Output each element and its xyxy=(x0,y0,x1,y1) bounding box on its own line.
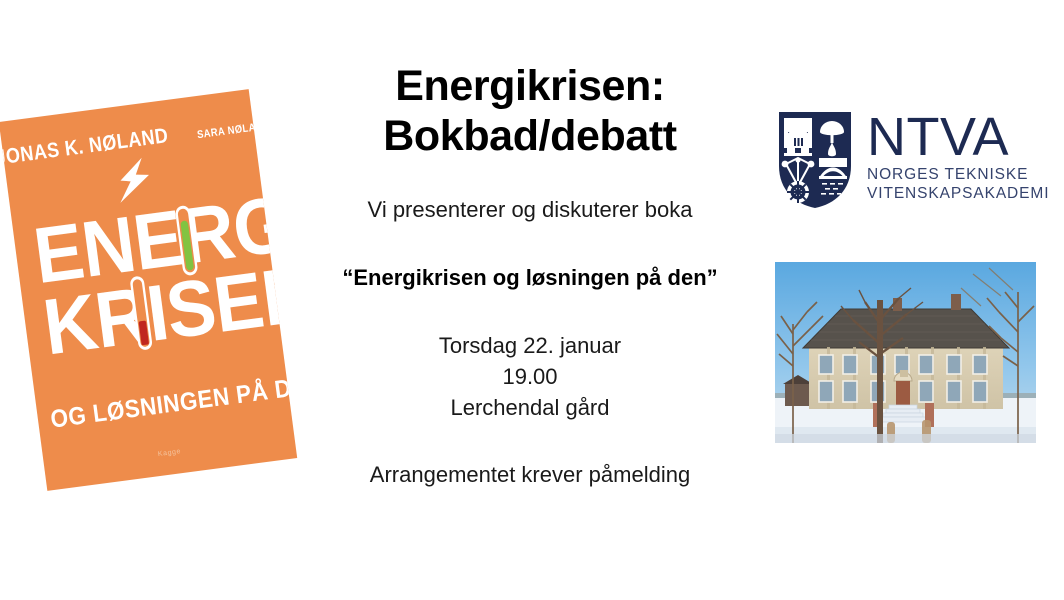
event-subtitle: Vi presenterer og diskuterer boka xyxy=(300,197,760,223)
ntva-shield-icon xyxy=(777,110,853,210)
book-quote-title: “Energikrisen og løsningen på den” xyxy=(300,265,760,291)
event-venue: Lerchendal gård xyxy=(300,392,760,423)
book-publisher-logo: Kagge xyxy=(44,433,295,473)
event-details: Torsdag 22. januar 19.00 Lerchendal gård xyxy=(300,330,760,424)
event-time: 19.00 xyxy=(300,361,760,392)
event-poster: JONAS K. NØLAND SARA NØLAND ENERGI- KRIS… xyxy=(0,0,1064,600)
ntva-wordmark: NTVA xyxy=(867,112,1049,164)
page-title: Energikrisen: Bokbad/debatt xyxy=(300,62,760,162)
ntva-logo: NTVA NORGES TEKNISKE VITENSKAPSAKADEMI xyxy=(777,110,1039,214)
castle-icon xyxy=(784,118,812,156)
event-title-line-1: Energikrisen: xyxy=(300,62,760,112)
registration-note: Arrangementet krever påmelding xyxy=(300,462,760,488)
book-title-block: ENERGI- KRISEN xyxy=(12,192,280,364)
ntva-text-block: NTVA NORGES TEKNISKE VITENSKAPSAKADEMI xyxy=(867,110,1049,203)
book-cover: JONAS K. NØLAND SARA NØLAND ENERGI- KRIS… xyxy=(0,89,297,491)
ntva-tagline-line-1: NORGES TEKNISKE xyxy=(867,166,1049,184)
book-author-secondary: SARA NØLAND xyxy=(196,120,270,141)
event-text-column: Energikrisen: Bokbad/debatt Vi presenter… xyxy=(300,0,760,600)
book-cover-image: JONAS K. NØLAND SARA NØLAND ENERGI- KRIS… xyxy=(0,89,297,491)
event-title-line-2: Bokbad/debatt xyxy=(300,112,760,162)
event-date: Torsdag 22. januar xyxy=(300,330,760,361)
ntva-tagline-line-2: VITENSKAPSAKADEMI xyxy=(867,185,1049,203)
book-title-line-2: KRISEN xyxy=(40,266,263,362)
lerchendal-gard-illustration xyxy=(775,262,1036,443)
book-subtitle: OG LØSNINGEN PÅ DEN xyxy=(49,376,278,434)
venue-photo xyxy=(775,262,1036,443)
